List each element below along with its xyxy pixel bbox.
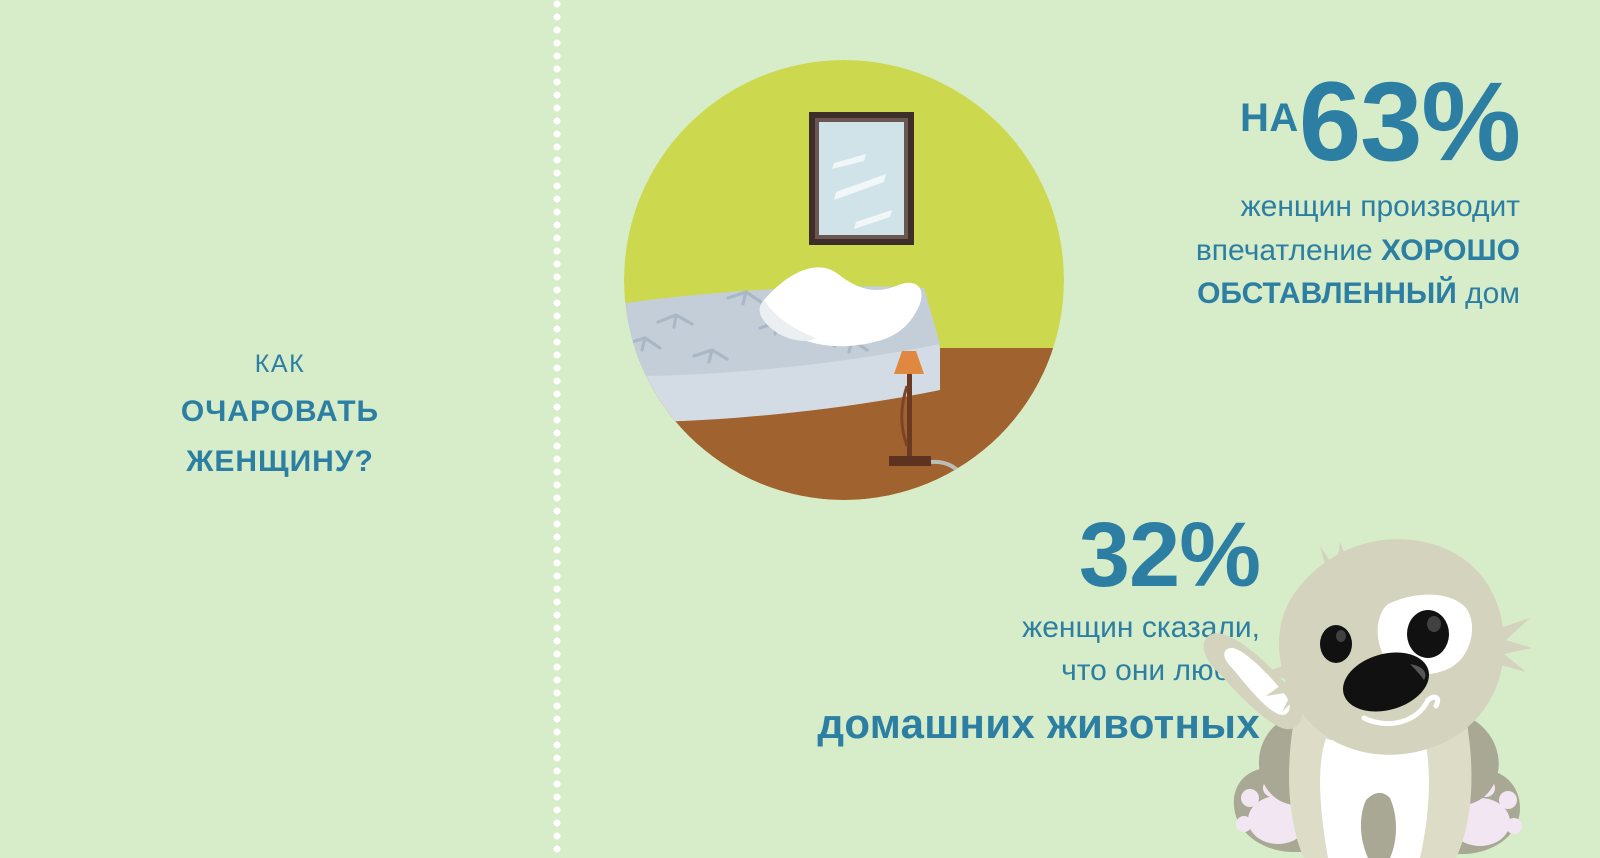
mirror-frame-shape (809, 112, 914, 245)
stat-32-description: женщин сказали, что они любят (660, 607, 1260, 692)
stat-63-desc-line1: женщин производит (1241, 190, 1520, 223)
dog-eye-left (1320, 625, 1352, 663)
stat-32-value: 32% (660, 512, 1260, 599)
stat-63-value: 63% (1299, 59, 1520, 184)
dog-chest-shadow (1361, 793, 1396, 858)
stat-63-desc-bold2: ОБСТАВЛЕННЫЙ (1197, 277, 1457, 310)
bedroom-circle-illustration (624, 60, 1064, 500)
stat-63-desc-bold1: ХОРОШО (1381, 234, 1520, 267)
page-title-line-2: ОЧАРОВАТЬ (60, 392, 500, 431)
page-title-line-1: КАК (60, 348, 500, 381)
stat-block-32: 32% женщин сказали, что они любят домашн… (660, 512, 1260, 749)
stat-63-prefix: НА (1240, 96, 1299, 140)
stat-block-63: НА63% женщин производит впечатление ХОРО… (1010, 70, 1520, 316)
stat-32-emphasis: домашних животных (660, 699, 1260, 749)
stat-63-desc-line3: дом (1457, 277, 1520, 310)
page-title: КАК ОЧАРОВАТЬ ЖЕНЩИНУ? (60, 348, 500, 481)
stat-63-headline: НА63% (1010, 70, 1520, 173)
stat-63-description: женщин производит впечатление ХОРОШО ОБС… (1010, 185, 1520, 316)
stat-63-desc-line2a: впечатление (1196, 234, 1381, 267)
vertical-dotted-divider (553, 0, 561, 854)
dog-eye-right (1407, 610, 1449, 658)
dog-illustration (1178, 468, 1600, 858)
page-title-line-3: ЖЕНЩИНУ? (60, 442, 500, 481)
